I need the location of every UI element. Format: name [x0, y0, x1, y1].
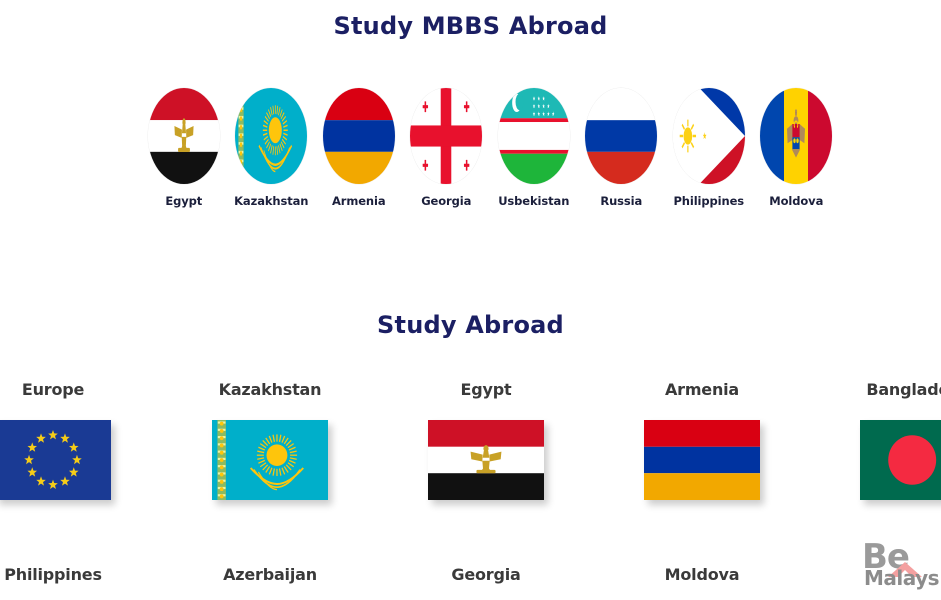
moldova-oval-flag-icon: [760, 88, 832, 184]
bangladesh-rect-flag-icon: [860, 420, 941, 500]
study-abroad-country-label: Bangladesh: [823, 380, 941, 399]
mbbs-country-label: Egypt: [165, 194, 202, 208]
study-abroad-grid: EuropeKazakhstanEgyptArmeniaBangladeshPh…: [0, 380, 941, 600]
study-abroad-country-europe-0[interactable]: Europe: [0, 380, 148, 500]
study-abroad-country-label: Europe: [0, 380, 148, 399]
study-abroad-country-azerbaijan-6[interactable]: Azerbaijan: [175, 565, 365, 584]
mbbs-country-philippines[interactable]: Philippines: [665, 88, 753, 208]
europe-rect-flag-icon: [0, 420, 111, 500]
mbbs-country-kazakhstan[interactable]: Kazakhstan: [228, 88, 316, 208]
kazakhstan-rect-flag-icon: [212, 420, 328, 500]
egypt-oval-flag-icon: [148, 88, 220, 184]
study-abroad-country-kazakhstan-1[interactable]: Kazakhstan: [175, 380, 365, 500]
mbbs-country-label: Armenia: [332, 194, 386, 208]
page-root: Study MBBS Abroad EgyptKazakhstanArmenia…: [0, 0, 941, 600]
armenia-rect-flag-icon: [644, 420, 760, 500]
mbbs-country-georgia[interactable]: Georgia: [403, 88, 491, 208]
mbbs-country-armenia[interactable]: Armenia: [315, 88, 403, 208]
watermark-name-text: Malays: [864, 566, 939, 590]
kazakhstan-oval-flag-icon: [235, 88, 307, 184]
page-title-study-abroad: Study Abroad: [0, 311, 941, 339]
study-abroad-country-moldova-8[interactable]: Moldova: [607, 565, 797, 584]
uzbekistan-oval-flag-icon: [498, 88, 570, 184]
mbbs-country-label: Kazakhstan: [234, 194, 308, 208]
mbbs-country-label: Russia: [600, 194, 642, 208]
study-abroad-country-egypt-2[interactable]: Egypt: [391, 380, 581, 500]
armenia-oval-flag-icon: [323, 88, 395, 184]
study-abroad-country-label: Kazakhstan: [175, 380, 365, 399]
egypt-rect-flag-icon: [428, 420, 544, 500]
page-title-mbbs: Study MBBS Abroad: [0, 12, 941, 40]
mbbs-country-moldova[interactable]: Moldova: [753, 88, 841, 208]
study-abroad-country-label: Georgia: [391, 565, 581, 584]
study-abroad-country-bangladesh-4[interactable]: Bangladesh: [823, 380, 941, 500]
study-abroad-country-armenia-3[interactable]: Armenia: [607, 380, 797, 500]
mbbs-country-uzbekistan[interactable]: Usbekistan: [490, 88, 578, 208]
study-abroad-country-label: Egypt: [391, 380, 581, 399]
study-abroad-country-label: Moldova: [607, 565, 797, 584]
mbbs-country-russia[interactable]: Russia: [578, 88, 666, 208]
russia-oval-flag-icon: [585, 88, 657, 184]
mbbs-flag-row: EgyptKazakhstanArmeniaGeorgiaUsbekistanR…: [140, 88, 840, 238]
mbbs-country-label: Georgia: [421, 194, 471, 208]
mbbs-country-label: Moldova: [769, 194, 823, 208]
study-abroad-country-georgia-7[interactable]: Georgia: [391, 565, 581, 584]
study-abroad-country-label: Armenia: [607, 380, 797, 399]
philippines-oval-flag-icon: [673, 88, 745, 184]
mbbs-country-egypt[interactable]: Egypt: [140, 88, 228, 208]
study-abroad-country-label: Philippines: [0, 565, 148, 584]
study-abroad-country-label: Azerbaijan: [175, 565, 365, 584]
mbbs-country-label: Usbekistan: [498, 194, 569, 208]
watermark-logo: Be Malays: [862, 540, 941, 600]
georgia-oval-flag-icon: [410, 88, 482, 184]
study-abroad-country-philippines-5[interactable]: Philippines: [0, 565, 148, 584]
mbbs-country-label: Philippines: [673, 194, 744, 208]
